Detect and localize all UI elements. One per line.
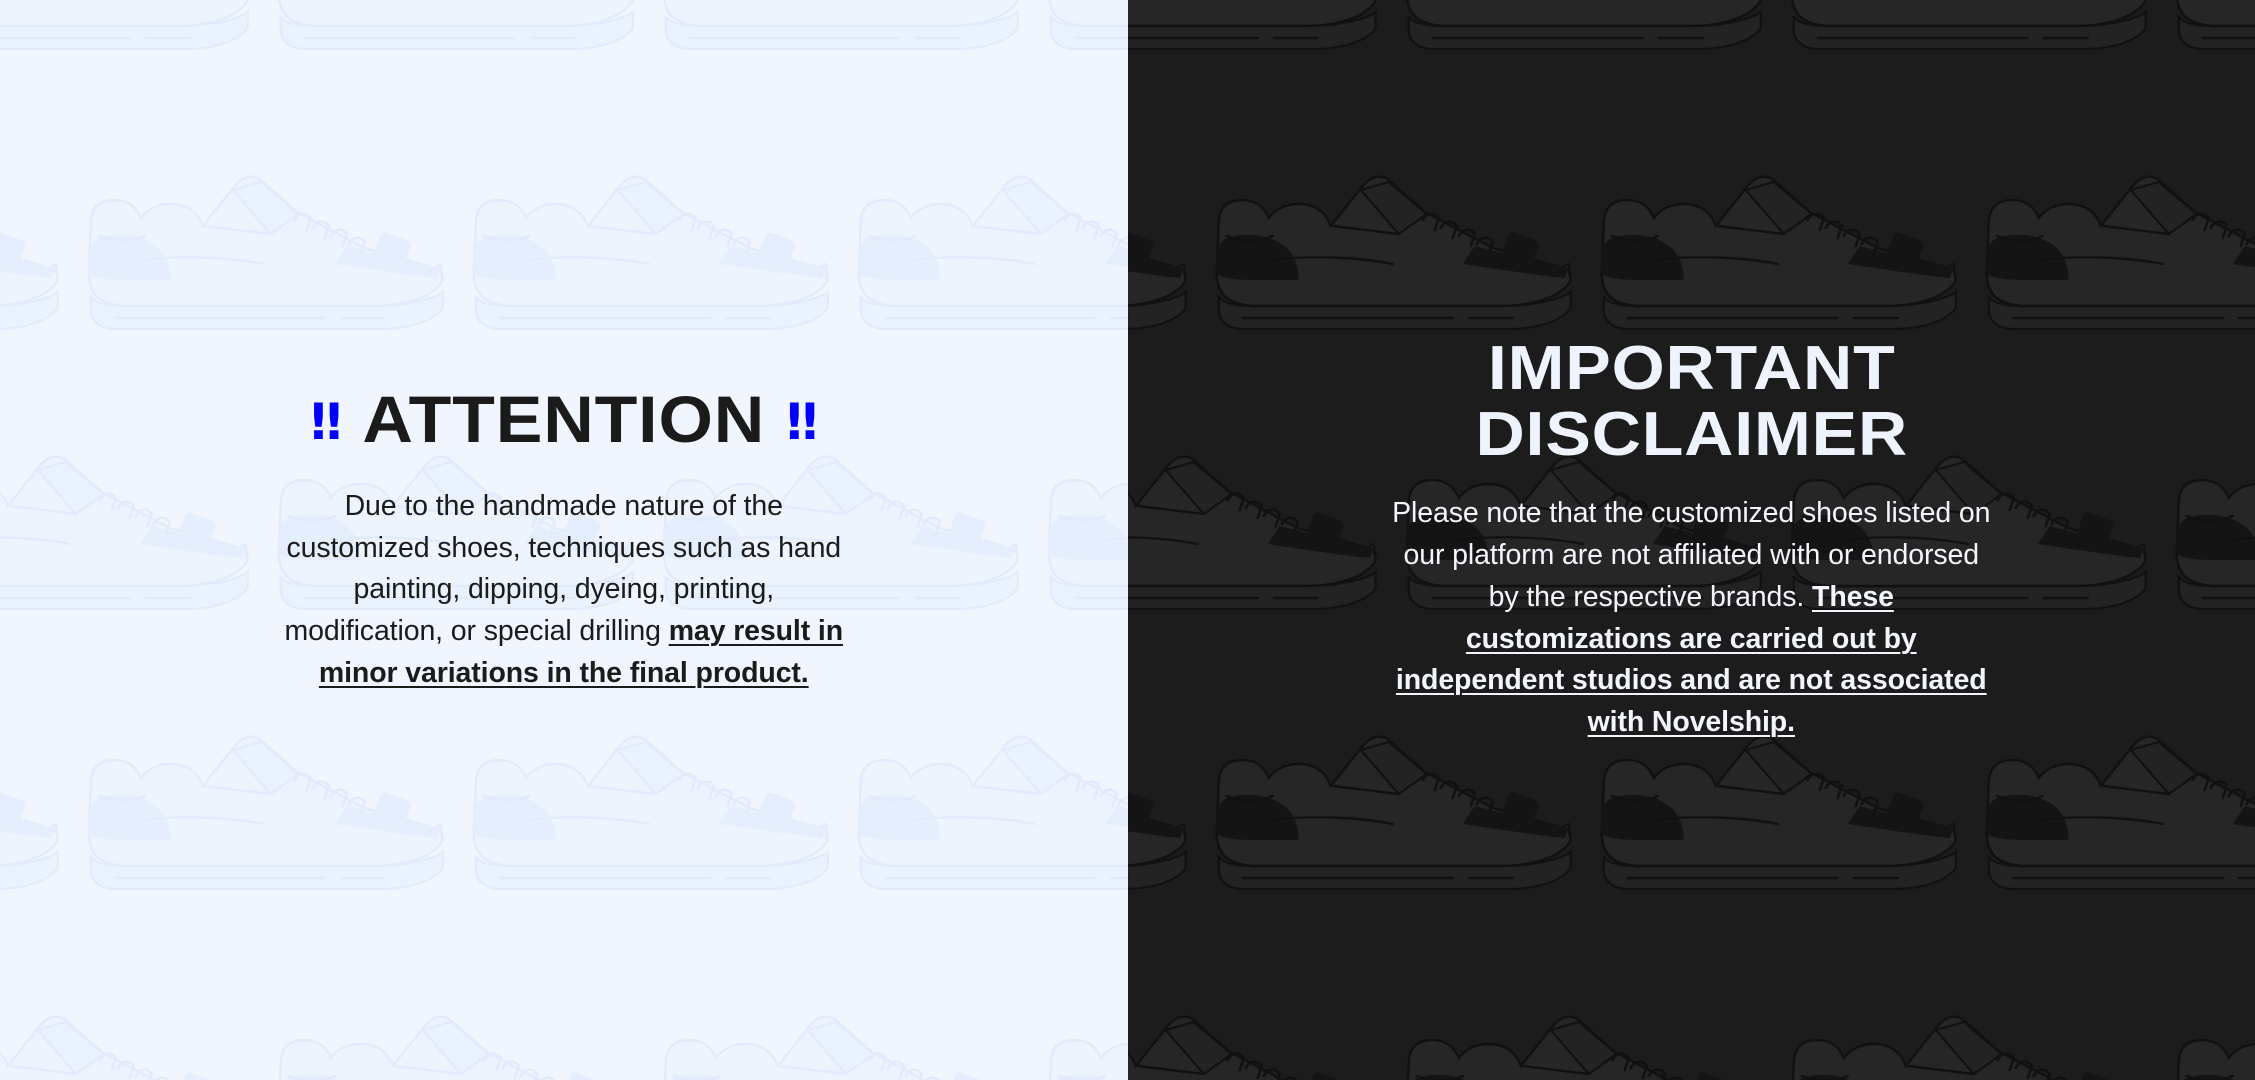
dual-panel-banner: ‼ATTENTION‼ Due to the handmade nature o… — [0, 0, 2255, 1080]
double-exclamation-mark-icon-right: ‼ — [787, 396, 817, 448]
disclaimer-panel: IMPORTANT DISCLAIMER Please note that th… — [1128, 0, 2255, 1080]
attention-body: Due to the handmade nature of the custom… — [271, 486, 856, 695]
attention-heading-word: ATTENTION — [362, 385, 765, 454]
attention-heading: ‼ATTENTION‼ — [9, 385, 1119, 454]
disclaimer-heading: IMPORTANT DISCLAIMER — [1128, 336, 2255, 467]
attention-panel: ‼ATTENTION‼ Due to the handmade nature o… — [0, 0, 1128, 1080]
disclaimer-body: Please note that the customized shoes li… — [1391, 493, 1991, 744]
disclaimer-content: IMPORTANT DISCLAIMER Please note that th… — [1128, 336, 2255, 744]
attention-content: ‼ATTENTION‼ Due to the handmade nature o… — [0, 385, 1128, 694]
disclaimer-body-normal: Please note that the customized shoes li… — [1392, 497, 1990, 613]
double-exclamation-mark-icon-left: ‼ — [310, 396, 340, 448]
disclaimer-heading-line-2: DISCLAIMER — [1128, 402, 2255, 468]
disclaimer-heading-line-1: IMPORTANT — [1128, 336, 2255, 402]
